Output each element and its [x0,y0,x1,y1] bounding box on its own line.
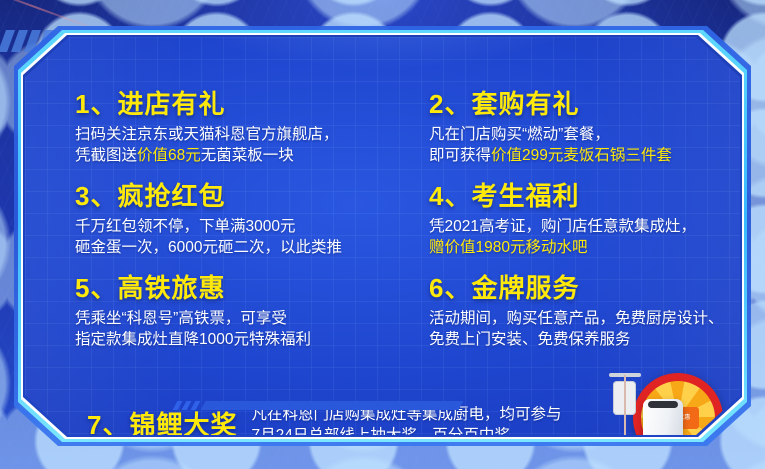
tech-frame-panel: 1、进店有礼 扫码关注京东或天猫科恩官方旗舰店，凭截图送价值68元无菌菜板一块 … [14,26,751,446]
promo-item-2-line: 即可获得价值299元麦饭石锅三件套 [429,145,672,166]
promo-item-1-body: 扫码关注京东或天猫科恩官方旗舰店，凭截图送价值68元无菌菜板一块 [75,124,339,166]
plain-text: 指定款集成灶直降1000元特殊福利 [75,331,311,348]
water-purifier-top-panel [648,401,678,408]
plain-text: 凭乘坐“科恩号”高铁票，可享受 [75,310,287,327]
promo-item-6: 6、金牌服务 活动期间，购买任意产品，免费厨房设计、免费上门安装、免费保养服务 [429,273,724,350]
plain-text: 免费上门安装、免费保养服务 [429,331,631,348]
plain-text: 即可获得 [429,147,491,164]
promo-item-4-line: 凭2021高考证，购门店任意款集成灶， [429,216,696,237]
promo-item-2-body: 凡在门店购买“燃动”套餐，即可获得价值299元麦饭石锅三件套 [429,124,672,166]
highlight-text: 价值299元麦饭石锅三件套 [491,147,672,164]
promo-item-4-line: 赠价值1980元移动水吧 [429,237,696,258]
promo-item-1: 1、进店有礼 扫码关注京东或天猫科恩官方旗舰店，凭截图送价值68元无菌菜板一块 [75,89,339,166]
promo-item-4-body: 凭2021高考证，购门店任意款集成灶，赠价值1980元移动水吧 [429,216,696,258]
promo-item-5: 5、高铁旅惠 凭乘坐“科恩号”高铁票，可享受指定款集成灶直降1000元特殊福利 [75,273,311,350]
promo-item-6-body: 活动期间，购买任意产品，免费厨房设计、免费上门安装、免费保养服务 [429,308,724,350]
promo-item-3: 3、疯抢红包 千万红包领不停，下单满3000元砸金蛋一次，6000元砸二次，以此… [75,181,342,258]
promo-item-2: 2、套购有礼 凡在门店购买“燃动”套餐，即可获得价值299元麦饭石锅三件套 [429,89,672,166]
promo-item-5-line: 指定款集成灶直降1000元特殊福利 [75,329,311,350]
plain-text: 7月24日总部线上抽大奖，百分百中奖 [251,427,509,435]
panel-inner-face: 1、进店有礼 扫码关注京东或天猫科恩官方旗舰店，凭截图送价值68元无菌菜板一块 … [25,37,740,435]
plain-text: 凭2021高考证，购门店任意款集成灶， [429,218,696,235]
plain-text: 无菌菜板一块 [201,147,294,164]
promo-item-1-title: 1、进店有礼 [75,89,339,119]
promo-item-2-line: 凡在门店购买“燃动”套餐， [429,124,672,145]
promo-item-3-body: 千万红包领不停，下单满3000元砸金蛋一次，6000元砸二次，以此类推 [75,216,342,258]
promo-item-5-title: 5、高铁旅惠 [75,273,311,303]
promo-item-3-line: 千万红包领不停，下单满3000元 [75,216,342,237]
promo-item-5-body: 凭乘坐“科恩号”高铁票，可享受指定款集成灶直降1000元特殊福利 [75,308,311,350]
promo-item-1-line: 扫码关注京东或天猫科恩官方旗舰店， [75,124,339,145]
plain-text: 扫码关注京东或天猫科恩官方旗舰店， [75,126,339,143]
promo-item-4: 4、考生福利 凭2021高考证，购门店任意款集成灶，赠价值1980元移动水吧 [429,181,696,258]
plain-text: 凭截图送 [75,147,137,164]
promo-item-7-title: 7、锦鲤大奖 [87,410,237,435]
water-bar-pole [624,375,626,435]
banner-stage: 1、进店有礼 扫码关注京东或天猫科恩官方旗舰店，凭截图送价值68元无菌菜板一块 … [0,0,765,469]
plain-text: 千万红包领不停，下单满3000元 [75,218,295,235]
highlight-text: 赠价值1980元移动水吧 [429,239,587,256]
promo-item-1-line: 凭截图送价值68元无菌菜板一块 [75,145,339,166]
plain-text: 活动期间，购买任意产品，免费厨房设计、 [429,310,724,327]
bottom-slash-decoration [175,401,475,411]
plain-text: 凡在门店购买“燃动”套餐， [429,126,610,143]
promo-item-6-line: 免费上门安装、免费保养服务 [429,329,724,350]
promo-item-4-title: 4、考生福利 [429,181,696,211]
promo-item-7-line: 7月24日总部线上抽大奖，百分百中奖 [251,425,561,435]
promo-item-3-title: 3、疯抢红包 [75,181,342,211]
promo-item-3-line: 砸金蛋一次，6000元砸二次，以此类推 [75,237,342,258]
highlight-text: 价值68元 [137,147,201,164]
promo-item-6-line: 活动期间，购买任意产品，免费厨房设计、 [429,308,724,329]
promo-item-5-line: 凭乘坐“科恩号”高铁票，可享受 [75,308,311,329]
promo-item-2-title: 2、套购有礼 [429,89,672,119]
promo-item-6-title: 6、金牌服务 [429,273,724,303]
plain-text: 砸金蛋一次，6000元砸二次，以此类推 [75,239,342,256]
